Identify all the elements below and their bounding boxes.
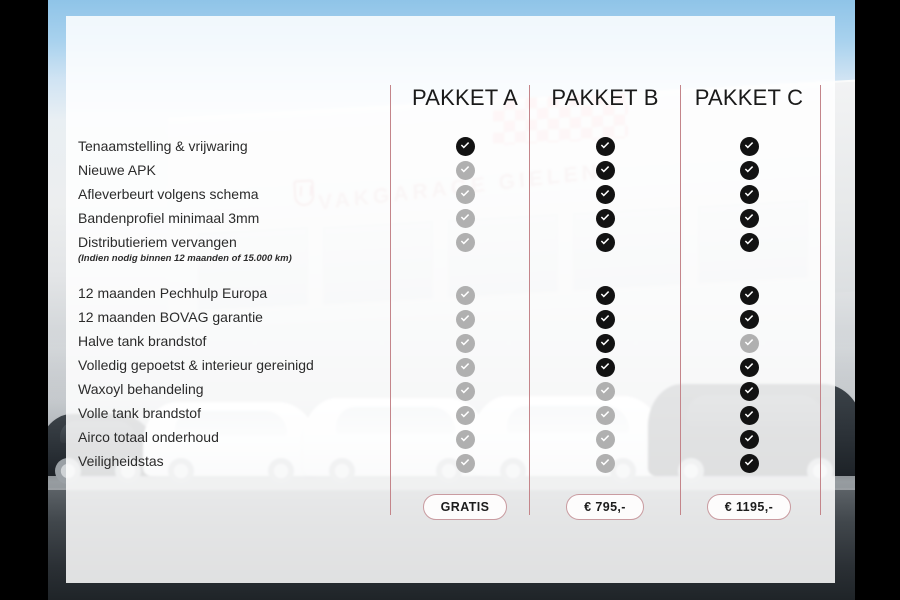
price-wrap-b: € 795,- [532, 494, 678, 520]
checkmark-cell [676, 230, 822, 254]
checkmark-cell [676, 182, 822, 206]
feature-list: Tenaamstelling & vrijwaringNieuwe APKAfl… [78, 134, 378, 473]
checkmark-cell [532, 158, 678, 182]
checkmark-cell [676, 355, 822, 379]
check-circle-icon [456, 209, 475, 228]
checkmark-cell [532, 307, 678, 331]
checkmark-cell [532, 427, 678, 451]
checkmark-cell [676, 379, 822, 403]
checkmark-cell [676, 283, 822, 307]
feature-label: Bandenprofiel minimaal 3mm [78, 206, 378, 230]
check-circle-icon [596, 334, 615, 353]
letterbox-bar-right [855, 0, 900, 600]
check-circle-icon [456, 233, 475, 252]
column-divider [390, 85, 391, 515]
check-circle-icon [596, 382, 615, 401]
feature-footnote: (Indien nodig binnen 12 maanden of 15.00… [78, 252, 378, 265]
price-wrap-a: GRATIS [392, 494, 538, 520]
check-circle-icon [740, 185, 759, 204]
check-circle-icon [456, 185, 475, 204]
check-circle-icon [596, 233, 615, 252]
check-circle-icon [740, 286, 759, 305]
check-circle-icon [740, 137, 759, 156]
group-spacer [676, 254, 822, 283]
checkmark-column-a [392, 134, 538, 475]
checkmark-column-b [532, 134, 678, 475]
check-circle-icon [596, 310, 615, 329]
checkmark-cell [676, 206, 822, 230]
check-circle-icon [596, 137, 615, 156]
check-circle-icon [740, 310, 759, 329]
check-circle-icon [456, 358, 475, 377]
check-circle-icon [740, 406, 759, 425]
checkmark-cell [532, 134, 678, 158]
check-circle-icon [740, 454, 759, 473]
check-circle-icon [740, 161, 759, 180]
checkmark-cell [676, 451, 822, 475]
check-circle-icon [456, 137, 475, 156]
check-circle-icon [596, 286, 615, 305]
price-badge-a[interactable]: GRATIS [423, 494, 508, 520]
group-spacer [532, 254, 678, 283]
feature-label: Halve tank brandstof [78, 329, 378, 353]
checkmark-cell [532, 451, 678, 475]
feature-label: Afleverbeurt volgens schema [78, 182, 378, 206]
checkmark-cell [392, 158, 538, 182]
checkmark-cell [532, 403, 678, 427]
checkmark-cell [532, 230, 678, 254]
check-circle-icon [456, 334, 475, 353]
check-circle-icon [740, 209, 759, 228]
checkmark-cell [392, 379, 538, 403]
check-circle-icon [456, 430, 475, 449]
checkmark-cell [676, 403, 822, 427]
checkmark-cell [676, 331, 822, 355]
feature-label: Veiligheidstas [78, 449, 378, 473]
check-circle-icon [596, 358, 615, 377]
package-comparison-card: Tenaamstelling & vrijwaringNieuwe APKAfl… [66, 16, 835, 583]
checkmark-cell [676, 158, 822, 182]
checkmark-cell [676, 427, 822, 451]
feature-label: 12 maanden BOVAG garantie [78, 305, 378, 329]
checkmark-cell [392, 230, 538, 254]
checkmark-cell [532, 283, 678, 307]
check-circle-icon [456, 382, 475, 401]
checkmark-cell [676, 134, 822, 158]
check-circle-icon [740, 334, 759, 353]
feature-label: 12 maanden Pechhulp Europa [78, 281, 378, 305]
price-badge-c[interactable]: € 1195,- [707, 494, 791, 520]
feature-label: Waxoyl behandeling [78, 377, 378, 401]
check-circle-icon [456, 406, 475, 425]
feature-label: Tenaamstelling & vrijwaring [78, 134, 378, 158]
check-circle-icon [456, 286, 475, 305]
checkmark-column-c [676, 134, 822, 475]
check-circle-icon [456, 310, 475, 329]
check-circle-icon [740, 358, 759, 377]
column-header-a: PAKKET A [392, 85, 538, 111]
check-circle-icon [596, 185, 615, 204]
screenshot-stage: VAKGARAGE GIELEN [0, 0, 900, 600]
checkmark-cell [392, 331, 538, 355]
check-circle-icon [596, 406, 615, 425]
checkmark-cell [392, 206, 538, 230]
checkmark-cell [532, 355, 678, 379]
feature-label: Distributieriem vervangen [78, 230, 378, 254]
check-circle-icon [596, 454, 615, 473]
checkmark-cell [392, 403, 538, 427]
letterbox-bar-left [0, 0, 48, 600]
checkmark-cell [532, 331, 678, 355]
check-circle-icon [740, 382, 759, 401]
check-circle-icon [740, 233, 759, 252]
check-circle-icon [456, 454, 475, 473]
feature-label: Volledig gepoetst & interieur gereinigd [78, 353, 378, 377]
check-circle-icon [596, 161, 615, 180]
checkmark-cell [392, 451, 538, 475]
checkmark-cell [392, 355, 538, 379]
check-circle-icon [456, 161, 475, 180]
group-spacer [392, 254, 538, 283]
group-spacer [78, 265, 378, 281]
feature-label: Nieuwe APK [78, 158, 378, 182]
checkmark-cell [532, 206, 678, 230]
column-header-b: PAKKET B [532, 85, 678, 111]
checkmark-cell [392, 307, 538, 331]
column-header-c: PAKKET C [676, 85, 822, 111]
feature-label: Airco totaal onderhoud [78, 425, 378, 449]
checkmark-cell [676, 307, 822, 331]
price-wrap-c: € 1195,- [676, 494, 822, 520]
check-circle-icon [740, 430, 759, 449]
checkmark-cell [392, 283, 538, 307]
check-circle-icon [596, 430, 615, 449]
check-circle-icon [596, 209, 615, 228]
price-badge-b[interactable]: € 795,- [566, 494, 644, 520]
checkmark-cell [392, 182, 538, 206]
checkmark-cell [532, 379, 678, 403]
checkmark-cell [392, 134, 538, 158]
feature-label: Volle tank brandstof [78, 401, 378, 425]
checkmark-cell [532, 182, 678, 206]
checkmark-cell [392, 427, 538, 451]
